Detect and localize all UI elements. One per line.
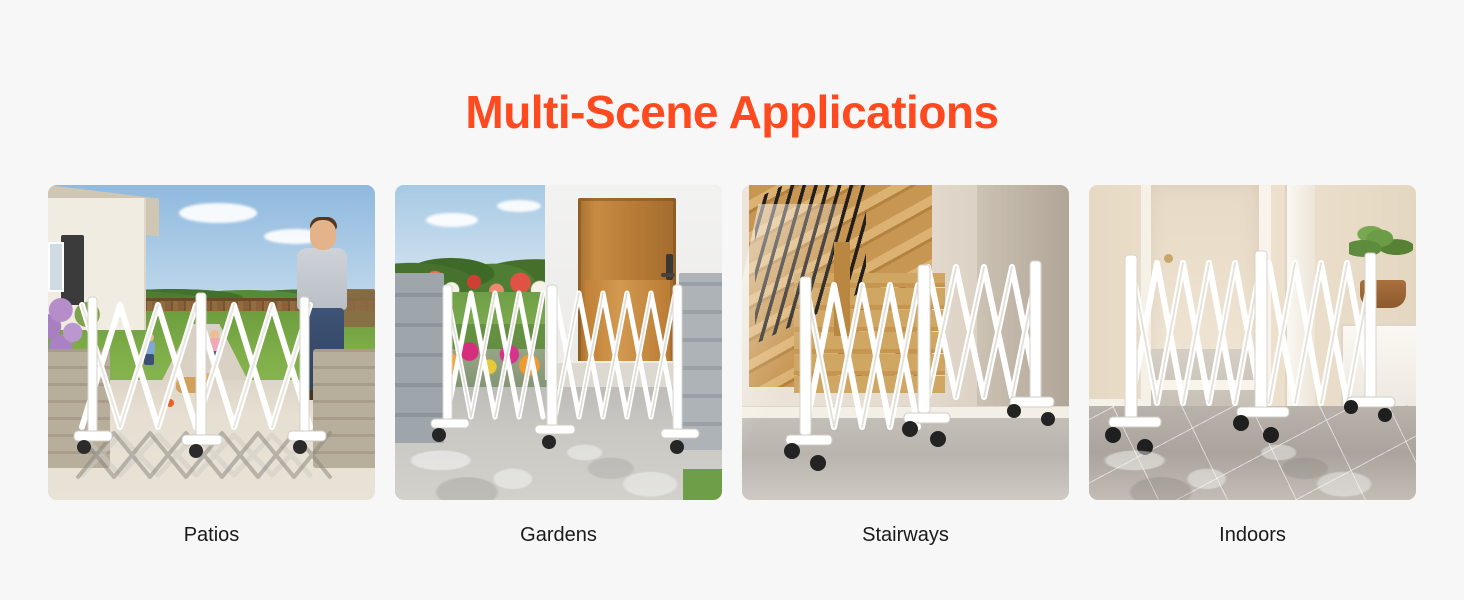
- expandable-barrier-gate: [742, 185, 1069, 500]
- expandable-barrier-gate: [395, 185, 722, 500]
- scene-image-indoors[interactable]: [1089, 185, 1416, 500]
- scene-image-gardens[interactable]: [395, 185, 722, 500]
- expandable-barrier-gate: [1089, 185, 1416, 500]
- gallery-card-gardens[interactable]: [395, 185, 722, 500]
- page-title: Multi-Scene Applications: [0, 88, 1464, 136]
- caption-row: Patios Gardens Stairways Indoors: [48, 512, 1416, 547]
- gallery-card-patios[interactable]: [48, 185, 375, 500]
- scene-gallery: [48, 185, 1416, 500]
- caption-gardens: Gardens: [395, 524, 722, 547]
- caption-indoors: Indoors: [1089, 524, 1416, 547]
- scene-image-patios[interactable]: [48, 185, 375, 500]
- caption-stairways: Stairways: [742, 524, 1069, 547]
- product-feature-banner: Multi-Scene Applications: [0, 0, 1464, 600]
- expandable-barrier-gate: [48, 185, 375, 500]
- gallery-card-stairways[interactable]: [742, 185, 1069, 500]
- caption-patios: Patios: [48, 524, 375, 547]
- scene-image-stairways[interactable]: [742, 185, 1069, 500]
- gallery-card-indoors[interactable]: [1089, 185, 1416, 500]
